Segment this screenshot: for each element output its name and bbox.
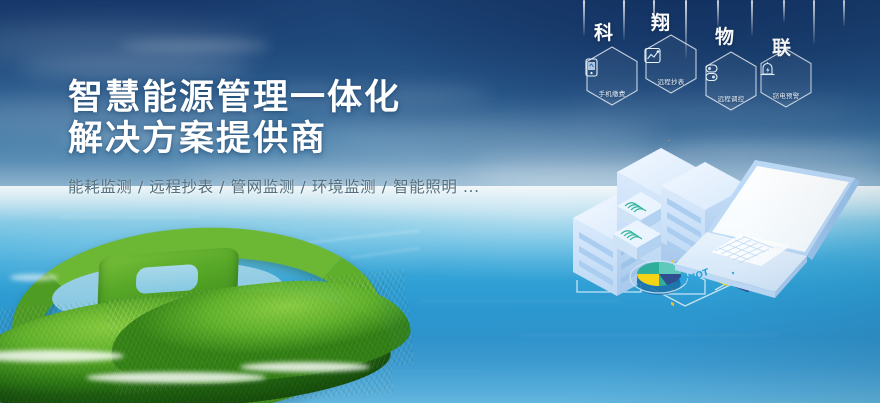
vignette-overlay xyxy=(0,0,880,403)
energy-management-banner: 智慧能源管理一体化 解决方案提供商 能耗监测 / 远程抄表 / 管网监测 / 环… xyxy=(0,0,880,403)
